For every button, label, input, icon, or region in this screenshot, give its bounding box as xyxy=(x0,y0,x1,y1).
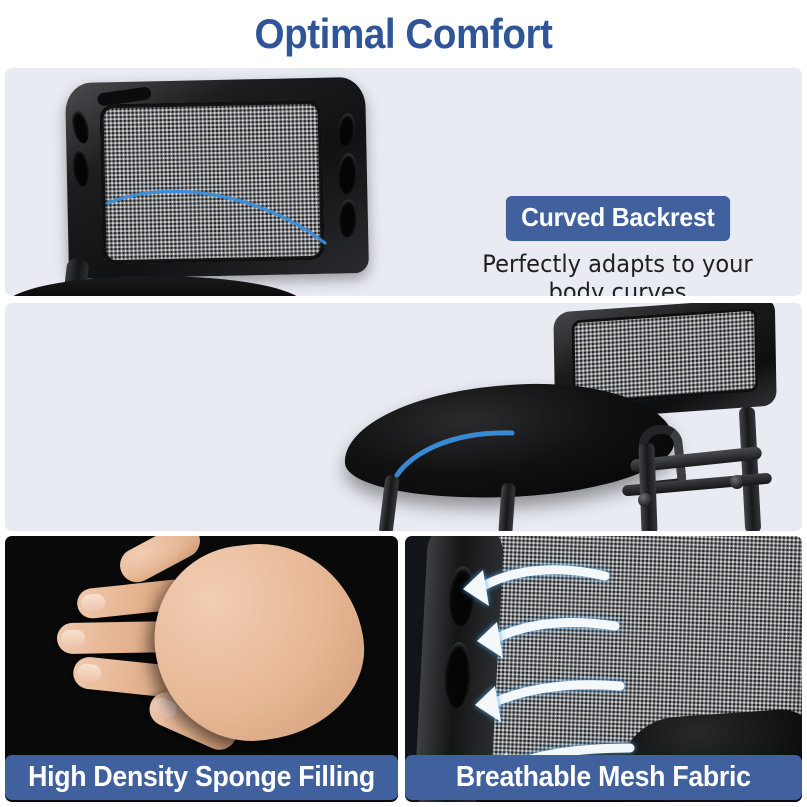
panel-curved-backrest: Curved Backrest Perfectly adapts to your… xyxy=(5,68,802,296)
backrest-hole-right-3 xyxy=(338,199,358,238)
caption-sponge-filling: High Density Sponge Filling xyxy=(5,755,398,800)
seat-illustration xyxy=(322,303,802,531)
caption-mesh-label: Breathable Mesh Fabric xyxy=(456,755,751,800)
infographic-page: Optimal Comfort Curved Backrest Perfectl… xyxy=(0,0,807,807)
caption-sponge-label: High Density Sponge Filling xyxy=(28,755,375,800)
frame-bolt-2 xyxy=(730,475,744,489)
fingernail-middle xyxy=(61,630,85,647)
backrest-text-block: Curved Backrest Perfectly adapts to your… xyxy=(445,196,790,296)
seat-edge xyxy=(5,276,305,296)
panel-padded-seat: Padded Seat Take the comfortableness to … xyxy=(5,303,802,531)
fingernail-index xyxy=(80,593,106,612)
backrest-mesh-panel xyxy=(99,100,324,265)
backrest-hole-right-1 xyxy=(336,112,357,147)
caption-mesh-fabric: Breathable Mesh Fabric xyxy=(405,755,802,800)
backrest-illustration xyxy=(5,68,445,296)
badge-curved-backrest: Curved Backrest xyxy=(506,196,730,241)
chair-leg-front-right xyxy=(498,483,516,531)
mesh-frame-hole-2 xyxy=(443,641,472,708)
mesh-frame-hole-1 xyxy=(447,565,476,626)
chair-leg-rear-left xyxy=(638,443,657,531)
fingernail-ring xyxy=(76,663,102,682)
chair-leg-rear-right xyxy=(739,407,762,531)
backrest-frame xyxy=(65,77,369,279)
backrest-hole-right-2 xyxy=(337,153,359,195)
description-curved-backrest: Perfectly adapts to your body curves xyxy=(455,250,779,296)
backrest-hole-left-1 xyxy=(69,109,91,146)
frame-bolt-1 xyxy=(638,493,652,507)
backrest-hole-left-2 xyxy=(70,148,91,188)
page-title: Optimal Comfort xyxy=(32,10,774,58)
